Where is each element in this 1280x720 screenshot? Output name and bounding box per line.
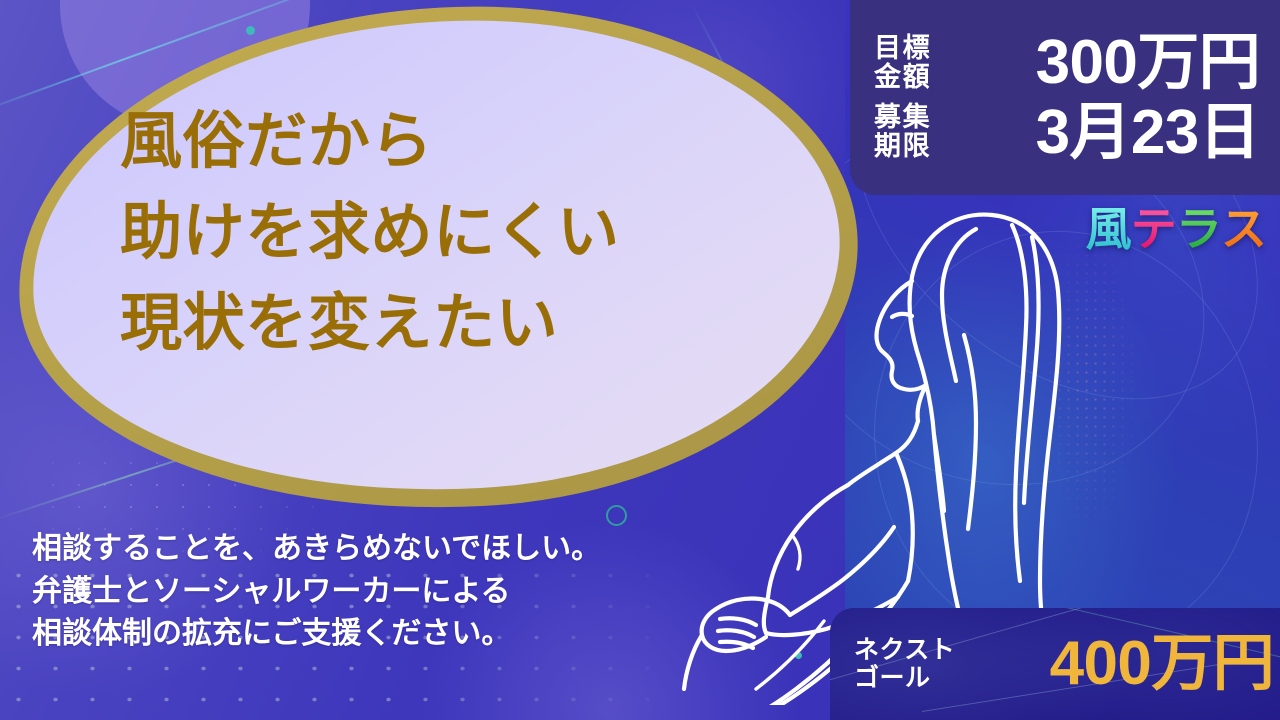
goal-deadline-value: 3月23日	[945, 101, 1264, 164]
goal-deadline-label: 募集 期限	[874, 103, 931, 161]
headline-text: 風俗だから 助けを求めにくい 現状を変えたい	[120, 96, 800, 369]
goal-amount-label: 目標 金額	[874, 34, 931, 92]
body-copy-text: 相談することを、あきらめないでほしい。 弁護士とソーシャルワーカーによる 相談体…	[32, 528, 732, 656]
logo-char-1: 風	[1086, 206, 1131, 252]
teal-dot-icon	[795, 652, 802, 659]
logo-char-3: ラ	[1176, 206, 1221, 252]
goal-badge: 目標 金額 300万円 募集 期限 3月23日	[850, 0, 1280, 195]
next-goal-content: ネクスト ゴール 400万円	[830, 633, 1280, 695]
goal-amount-value: 300万円	[945, 31, 1264, 94]
next-goal-label: ネクスト ゴール	[854, 636, 955, 692]
next-goal-banner: ネクスト ゴール 400万円	[830, 608, 1280, 720]
logo-char-2: テ	[1131, 206, 1176, 252]
poster-canvas: 風俗だから 助けを求めにくい 現状を変えたい 相談することを、あきらめないでほし…	[0, 0, 1280, 720]
goal-deadline-row: 募集 期限 3月23日	[874, 101, 1264, 164]
logo-char-4: ス	[1221, 206, 1266, 252]
goal-rows: 目標 金額 300万円 募集 期限 3月23日	[850, 21, 1280, 173]
next-goal-value: 400万円	[963, 633, 1280, 695]
teal-ring-icon	[606, 505, 627, 526]
goal-amount-row: 目標 金額 300万円	[874, 31, 1264, 94]
furiterasu-logo: 風 テ ラ ス	[1086, 206, 1266, 252]
